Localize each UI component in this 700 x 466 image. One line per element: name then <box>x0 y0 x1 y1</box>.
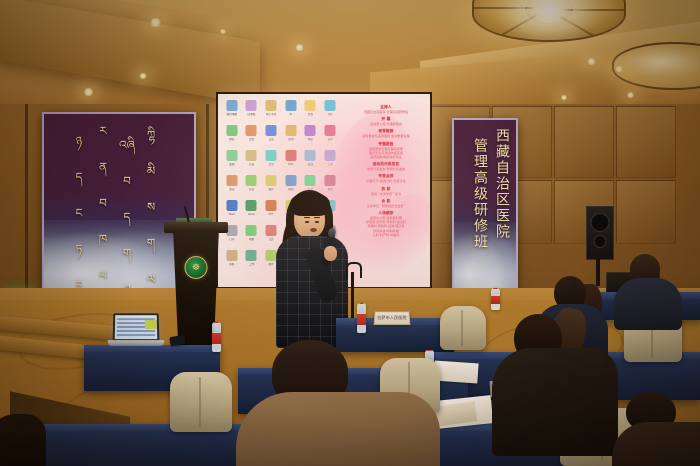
desktop-icon-glyph <box>305 175 316 186</box>
desktop-icon-glyph <box>266 125 277 136</box>
name-placard-label: 拉萨市人民医院 <box>377 315 407 321</box>
desktop-icon[interactable]: 压缩 <box>242 148 262 173</box>
desktop-icon-glyph <box>285 125 296 136</box>
desktop-icon-glyph <box>285 150 296 161</box>
desktop-icon-glyph <box>246 175 257 186</box>
desktop-icon-label: 地图 <box>243 238 261 245</box>
downlight-5 <box>138 73 148 79</box>
desktop-icon-label: 桌面 <box>302 163 320 170</box>
desktop-icon-glyph <box>305 100 316 111</box>
desktop-icon-label: 网上邻居 <box>262 113 280 120</box>
laptop-keyboard[interactable] <box>108 340 165 346</box>
desktop-icon-glyph <box>226 200 237 211</box>
desktop-icon-glyph <box>305 125 316 136</box>
desktop-icon-glyph <box>226 100 237 111</box>
desktop-icon-label: 资料 <box>223 263 241 270</box>
chair <box>440 306 486 350</box>
desktop-icon-glyph <box>325 100 336 111</box>
desktop-icon-label: 迅雷 <box>243 138 261 145</box>
desktop-icon-label: 文档 <box>302 113 320 120</box>
desktop-icon-label: 回收站 <box>243 113 261 120</box>
slide-block-line: 西藏自治区医院 管理高级研修班 <box>346 110 426 114</box>
microphone-clip <box>346 262 362 278</box>
water-bottle <box>212 322 221 352</box>
slide-block-line: 问答环节 案例分析 分组讨论 <box>346 179 426 183</box>
desktop-icon[interactable]: 资料 <box>222 248 242 273</box>
desktop-icon[interactable]: 我的电脑 <box>222 98 242 123</box>
desktop-icon[interactable]: 微信 <box>222 123 242 148</box>
slide-text-panel: 主持人西藏自治区医院 管理高级研修班开 幕运动员入场 升国旗儀式领导致辞领导发言… <box>346 102 426 237</box>
slide-block-line: 儿科·妇产科·中医科 <box>346 233 426 237</box>
desktop-icon[interactable]: 登录 <box>261 148 281 173</box>
conference-hall-photo: EXIT ཀྷི མི ས ག ལ མ འཞི བ ད ག ཤ ར ར ན བ … <box>0 0 700 466</box>
tibetan-column-3: ར ན བ ཁ པ མ <box>92 118 114 298</box>
desktop-icon[interactable]: Word <box>222 198 242 223</box>
downlight-2 <box>219 29 227 34</box>
desktop-icon-glyph <box>246 100 257 111</box>
presenter-hand <box>324 246 337 261</box>
desktop-icon[interactable]: 百度 <box>261 123 281 148</box>
desktop-icon[interactable]: 驱动 <box>222 173 242 198</box>
desktop-icon[interactable]: 电影 <box>301 123 321 148</box>
desktop-icon-label: IE <box>282 113 300 120</box>
desktop-icon-label: 压缩 <box>243 163 261 170</box>
presenter-laptop[interactable] <box>108 313 162 351</box>
hospital-emblem-icon: ☸ <box>185 256 208 279</box>
desktop-icon[interactable]: QQ <box>320 98 340 123</box>
downlight-6 <box>586 58 597 65</box>
chinese-banner-column-2: 管理高级研修班 <box>472 138 488 250</box>
desktop-icon-label: 工作 <box>243 263 261 270</box>
desktop-icon-label: PDF <box>282 163 300 170</box>
desktop-icon[interactable]: 截图 <box>222 148 242 173</box>
chinese-banner-column-1: 西藏自治区医院 <box>494 128 510 240</box>
desktop-icon-label: 电影 <box>302 138 320 145</box>
desktop-icon-label: QQ <box>321 113 339 120</box>
attendee-body <box>612 422 700 466</box>
desktop-icon[interactable]: 桌面 <box>301 148 321 173</box>
attendee-left-edge <box>0 414 46 466</box>
desktop-icon[interactable]: 搜狗 <box>281 123 301 148</box>
desktop-icon-glyph <box>325 150 336 161</box>
desktop-icon-label: 音乐 <box>321 138 339 145</box>
desktop-icon-glyph <box>266 150 277 161</box>
desktop-icon-label: 驱动 <box>223 188 241 195</box>
downlight-9 <box>560 95 568 100</box>
desktop-icon[interactable]: 网上邻居 <box>261 98 281 123</box>
desktop-icon-label: 我的电脑 <box>223 113 241 120</box>
desktop-icon-label: 搜狗 <box>282 138 300 145</box>
chinese-banner: 西藏自治区医院 管理高级研修班 <box>452 118 518 298</box>
slide-block-line: 全体学员 “研修班纪念合影” <box>346 204 426 208</box>
desktop-icon[interactable]: 地图 <box>242 223 262 248</box>
pa-speaker <box>586 206 614 260</box>
name-placard: 拉萨市人民医院 <box>374 311 411 325</box>
attendee-far-right <box>616 392 700 466</box>
tibetan-column-1: ཀྷི མི ས ག ལ མ <box>140 122 162 298</box>
desktop-icon[interactable]: 杂项 <box>242 173 262 198</box>
desktop-icon-glyph <box>266 175 277 186</box>
desktop-icon-label: 登录 <box>262 163 280 170</box>
wall-divider <box>25 104 28 304</box>
water-bottle <box>357 303 366 333</box>
desktop-icon-label: 截图 <box>223 163 241 170</box>
desktop-icon-glyph <box>285 100 296 111</box>
downlight-3 <box>294 44 305 51</box>
desktop-icon[interactable]: 音乐 <box>320 123 340 148</box>
desktop-icon-glyph <box>266 100 277 111</box>
tibetan-column-4: ཉ ད ང ཏ ར མ <box>68 128 90 298</box>
tibetan-column-2: འཞི བ ད ག ཤ ར <box>116 132 138 298</box>
desktop-icon-glyph <box>325 125 336 136</box>
desktop-icon-label: 百度 <box>262 138 280 145</box>
presenter-mouth <box>310 228 317 232</box>
laptop-screen <box>115 315 158 339</box>
attendee-body <box>236 392 440 466</box>
wall-panel <box>554 106 614 178</box>
desktop-icon[interactable]: Excel <box>242 198 262 223</box>
microphone-stand-pole <box>351 272 354 320</box>
desktop-icon-glyph <box>226 175 237 186</box>
desktop-icon-glyph <box>325 175 336 186</box>
downlight-8 <box>626 92 635 98</box>
downlight-7 <box>614 66 624 72</box>
desktop-icon-label: Word <box>223 213 241 220</box>
desktop-icon-glyph <box>226 250 237 261</box>
desktop-icon-glyph <box>305 150 316 161</box>
laptop-lid <box>113 313 160 341</box>
wall-panel <box>616 180 676 244</box>
slide-block-line: 运动员入场 升国旗儀式 <box>346 122 426 126</box>
downlight-4 <box>82 88 95 96</box>
desktop-icon-glyph <box>246 200 257 211</box>
desktop-icon[interactable]: 工作 <box>242 248 262 273</box>
desktop-icon-glyph <box>246 250 257 261</box>
wall-panel <box>616 106 676 178</box>
slide-block-line: 医院绩效考核体系建设 <box>346 155 426 159</box>
desktop-icon[interactable]: PDF <box>281 148 301 173</box>
attendee-note-taker <box>492 304 632 454</box>
presenter-hair-front <box>290 192 330 216</box>
attendee-body <box>0 414 46 466</box>
chair <box>170 372 232 432</box>
slide-block-line: 颁发 “优秀学员” 证书 <box>346 192 426 196</box>
desktop-icon-glyph <box>226 125 237 136</box>
desktop-icon-label: Excel <box>243 213 261 220</box>
desktop-icon[interactable]: 工具 <box>320 148 340 173</box>
desktop-icon-glyph <box>246 125 257 136</box>
desktop-icon-glyph <box>285 175 296 186</box>
attendee-body <box>492 348 618 456</box>
desktop-icon[interactable]: 迅雷 <box>242 123 262 148</box>
attendee-foreground-tan <box>236 340 446 466</box>
desktop-icon-label: 杂项 <box>243 188 261 195</box>
desktop-icon-label: 微信 <box>223 138 241 145</box>
desktop-icon-glyph <box>246 225 257 236</box>
slide-block-line: 领导发言与来宾致辞·会议重要议程 <box>346 134 426 138</box>
desktop-icon-glyph <box>246 150 257 161</box>
desktop-icon[interactable]: 文档 <box>301 98 321 123</box>
desktop-icon-label: 工具 <box>321 163 339 170</box>
desktop-icon[interactable]: 回收站 <box>242 98 262 123</box>
desktop-icon[interactable]: IE <box>281 98 301 123</box>
downlight-1 <box>148 18 163 27</box>
slide-block-line: 学员代表发言 教师代表发言 <box>346 167 426 171</box>
desktop-icon-label: 打印 <box>223 238 241 245</box>
desktop-icon-glyph <box>226 150 237 161</box>
